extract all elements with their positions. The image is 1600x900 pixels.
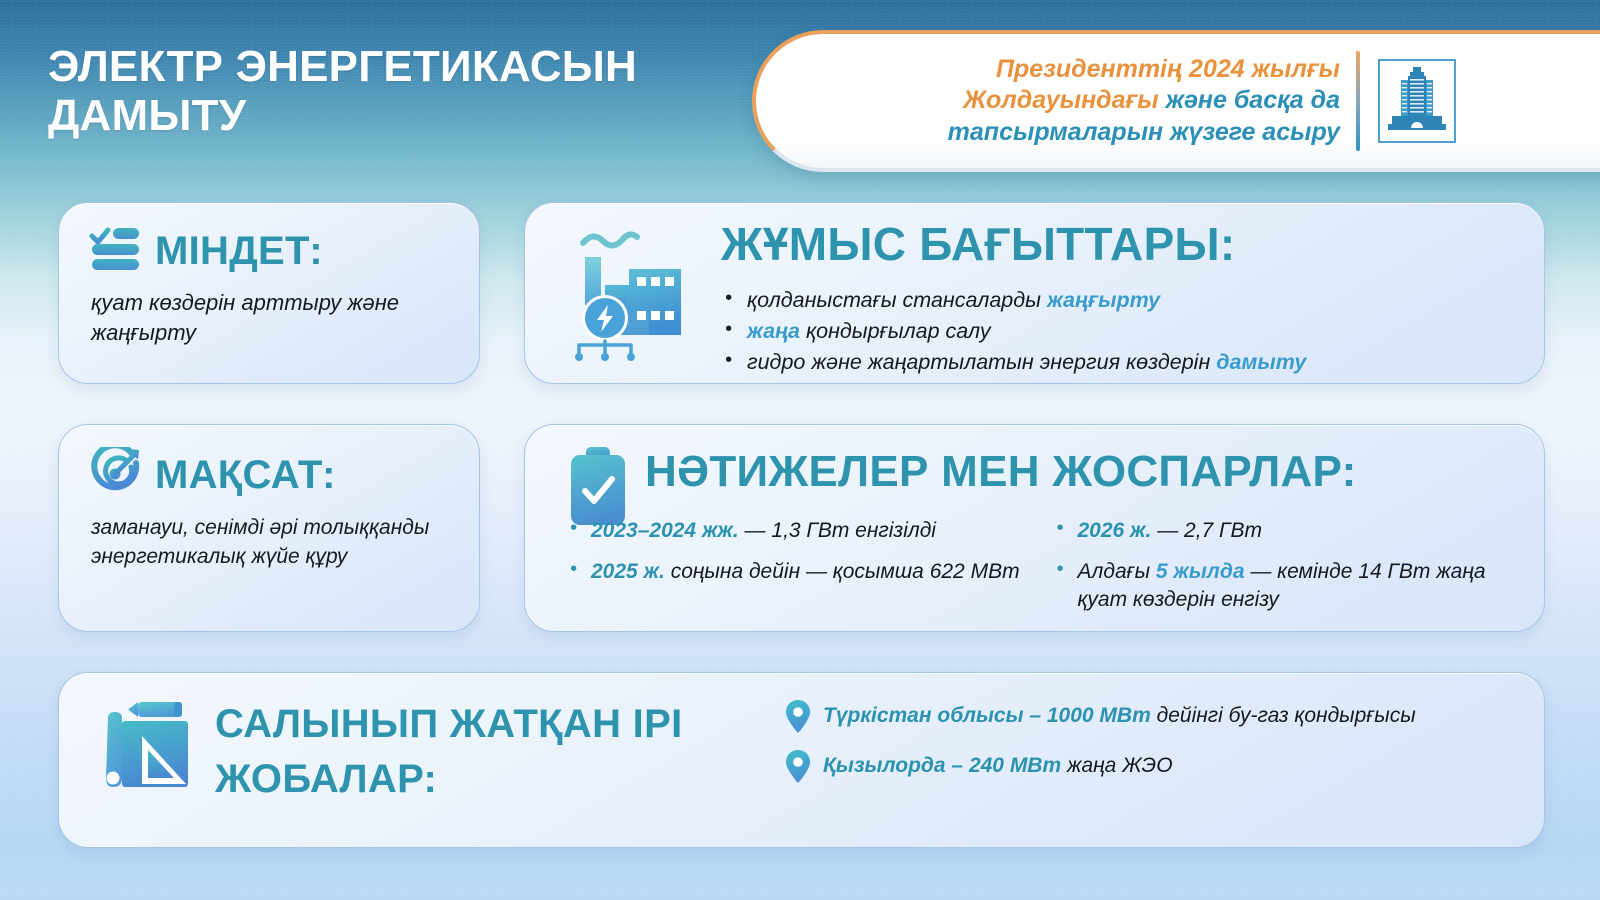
banner-divider xyxy=(1356,51,1360,151)
pin-text: Қызылорда – 240 МВт жаңа ЖЭО xyxy=(823,749,1173,779)
card-task: МІНДЕТ: қуат көздерін арттыру және жаңғы… xyxy=(58,202,480,384)
results-columns: 2023–2024 жж. — 1,3 ГВт енгізілді 2025 ж… xyxy=(567,517,1522,627)
checklist-icon xyxy=(89,225,141,278)
result-highlight: 2025 ж. xyxy=(591,560,665,583)
card-task-title: МІНДЕТ: xyxy=(155,229,323,274)
map-pin-icon xyxy=(785,699,811,735)
banner-line2-rest: және басқа да xyxy=(1159,86,1340,114)
blueprint-tools-icon xyxy=(100,692,208,796)
card-results-title: НӘТИЖЕЛЕР МЕН ЖОСПАРЛАР: xyxy=(645,447,1357,497)
list-item: Түркістан облысы – 1000 МВт дейінгі бу-г… xyxy=(785,699,1485,735)
projects-pin-list: Түркістан облысы – 1000 МВт дейінгі бу-г… xyxy=(785,699,1485,799)
banner-line3: тапсырмаларын жүзеге асыру xyxy=(948,118,1340,146)
banner-line1: Президенттің 2024 жылғы xyxy=(996,55,1340,83)
card-task-header: МІНДЕТ: xyxy=(59,203,479,278)
target-arrow-icon xyxy=(89,447,141,504)
kazakhstan-government-building-emblem-icon xyxy=(1378,59,1456,143)
bullet-pre: гидро және жаңартылатын энергия көздерін xyxy=(747,350,1216,374)
list-item: Қызылорда – 240 МВт жаңа ЖЭО xyxy=(785,749,1485,785)
work-bullet-list: қолданыстағы стансаларды жаңғырту жаңа қ… xyxy=(721,285,1544,379)
list-item: гидро және жаңартылатын энергия көздерін… xyxy=(721,347,1544,378)
card-work-title: ЖҰМЫС БАҒЫТТАРЫ: xyxy=(721,217,1236,271)
pin-text: Түркістан облысы – 1000 МВт дейінгі бу-г… xyxy=(823,699,1416,729)
card-goal-title: МАҚСАТ: xyxy=(155,453,336,498)
card-projects-title: САЛЫНЫП ЖАТҚАН ІРІ ЖОБАЛАР: xyxy=(215,697,775,807)
card-goal-header: МАҚСАТ: xyxy=(59,425,479,504)
bullet-post: қондырғылар салу xyxy=(800,319,991,343)
pin-highlight: Қызылорда – 240 МВт xyxy=(823,754,1061,777)
bullet-pre: қолданыстағы стансаларды xyxy=(747,288,1047,312)
list-item: жаңа қондырғылар салу xyxy=(721,316,1544,347)
results-column-left: 2023–2024 жж. — 1,3 ГВт енгізілді 2025 ж… xyxy=(567,517,1036,627)
president-address-banner: Президенттің 2024 жылғы Жолдауындағы жән… xyxy=(752,30,1600,172)
page-title: ЭЛЕКТР ЭНЕРГЕТИКАСЫН ДАМЫТУ xyxy=(48,42,748,141)
card-goal: МАҚСАТ: заманауи, сенімді әрі толыққанды… xyxy=(58,424,480,632)
bullet-highlight: жаңа xyxy=(747,319,800,343)
pin-highlight: Түркістан облысы – 1000 МВт xyxy=(823,704,1151,727)
list-item: қолданыстағы стансаларды жаңғырту xyxy=(721,285,1544,316)
map-pin-icon xyxy=(785,749,811,785)
infographic-stage: ЭЛЕКТР ЭНЕРГЕТИКАСЫН ДАМЫТУ Президенттің… xyxy=(0,0,1600,900)
bullet-highlight: дамыту xyxy=(1216,350,1306,374)
card-work-directions: ЖҰМЫС БАҒЫТТАРЫ: қолданыстағы стансалард… xyxy=(524,202,1545,384)
result-pre: Алдағы xyxy=(1078,560,1156,583)
pin-rest: дейінгі бу-газ қондырғысы xyxy=(1151,704,1416,727)
list-item: 2025 ж. соңына дейін — қосымша 622 МВт xyxy=(567,558,1036,587)
list-item: 2026 ж. — 2,7 ГВт xyxy=(1054,517,1523,546)
result-rest: — 2,7 ГВт xyxy=(1151,519,1262,542)
power-plant-icon xyxy=(569,225,709,363)
card-goal-body: заманауи, сенімді әрі толыққанды энергет… xyxy=(59,504,479,572)
card-work-body: қолданыстағы стансаларды жаңғырту жаңа қ… xyxy=(721,271,1544,379)
result-highlight: 5 жылда xyxy=(1156,560,1245,583)
banner-text: Президенттің 2024 жылғы Жолдауындағы жән… xyxy=(816,54,1356,149)
result-rest: соңына дейін — қосымша 622 МВт xyxy=(665,560,1020,583)
banner-line2-highlight: Жолдауындағы xyxy=(963,86,1159,114)
bullet-highlight: жаңғырту xyxy=(1047,288,1160,312)
result-rest: — 1,3 ГВт енгізілді xyxy=(739,519,936,542)
card-task-body: қуат көздерін арттыру және жаңғырту xyxy=(59,278,479,349)
pin-rest: жаңа ЖЭО xyxy=(1061,754,1172,777)
result-highlight: 2023–2024 жж. xyxy=(591,519,739,542)
card-major-projects: САЛЫНЫП ЖАТҚАН ІРІ ЖОБАЛАР: xyxy=(58,672,1545,848)
card-results-and-plans: НӘТИЖЕЛЕР МЕН ЖОСПАРЛАР: 2023–2024 жж. —… xyxy=(524,424,1545,632)
list-item: Алдағы 5 жылда — кемінде 14 ГВт жаңа қуа… xyxy=(1054,558,1523,615)
result-highlight: 2026 ж. xyxy=(1078,519,1152,542)
results-column-right: 2026 ж. — 2,7 ГВт Алдағы 5 жылда — кемін… xyxy=(1054,517,1523,627)
list-item: 2023–2024 жж. — 1,3 ГВт енгізілді xyxy=(567,517,1036,546)
